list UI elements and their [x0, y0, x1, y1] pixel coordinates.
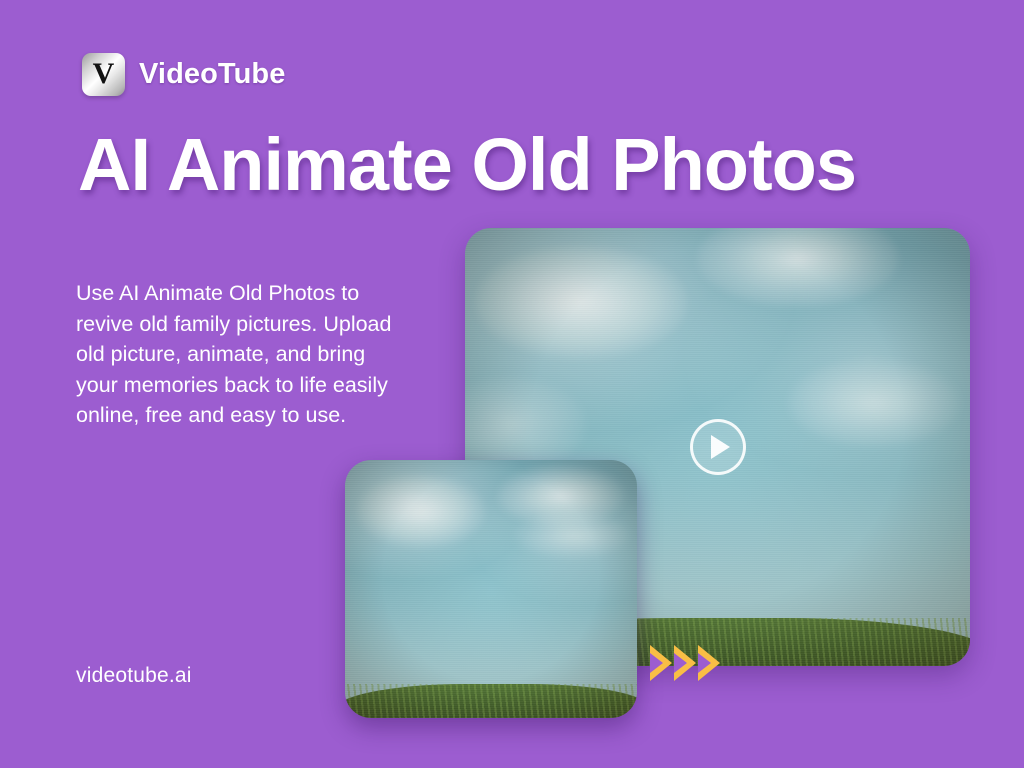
- grass-ground-inset: [345, 684, 637, 718]
- videotube-logo-icon: V: [82, 53, 125, 96]
- website-url[interactable]: videotube.ai: [76, 664, 192, 688]
- chevron-right-icon: [698, 645, 720, 681]
- chevron-right-icon: [650, 645, 672, 681]
- photo-scene-inset: [345, 460, 637, 718]
- brand-name: VideoTube: [139, 58, 285, 91]
- chevron-right-icon: [674, 645, 696, 681]
- play-icon[interactable]: [690, 419, 746, 475]
- logo-letter: V: [93, 59, 115, 89]
- original-family-photo[interactable]: [345, 460, 637, 718]
- brand-lockup[interactable]: V VideoTube: [82, 53, 285, 96]
- page-title: AI Animate Old Photos: [78, 125, 978, 205]
- forward-chevrons: [650, 645, 720, 681]
- poster-canvas: V VideoTube AI Animate Old Photos Use AI…: [0, 0, 1024, 768]
- description-text: Use AI Animate Old Photos to revive old …: [76, 278, 412, 431]
